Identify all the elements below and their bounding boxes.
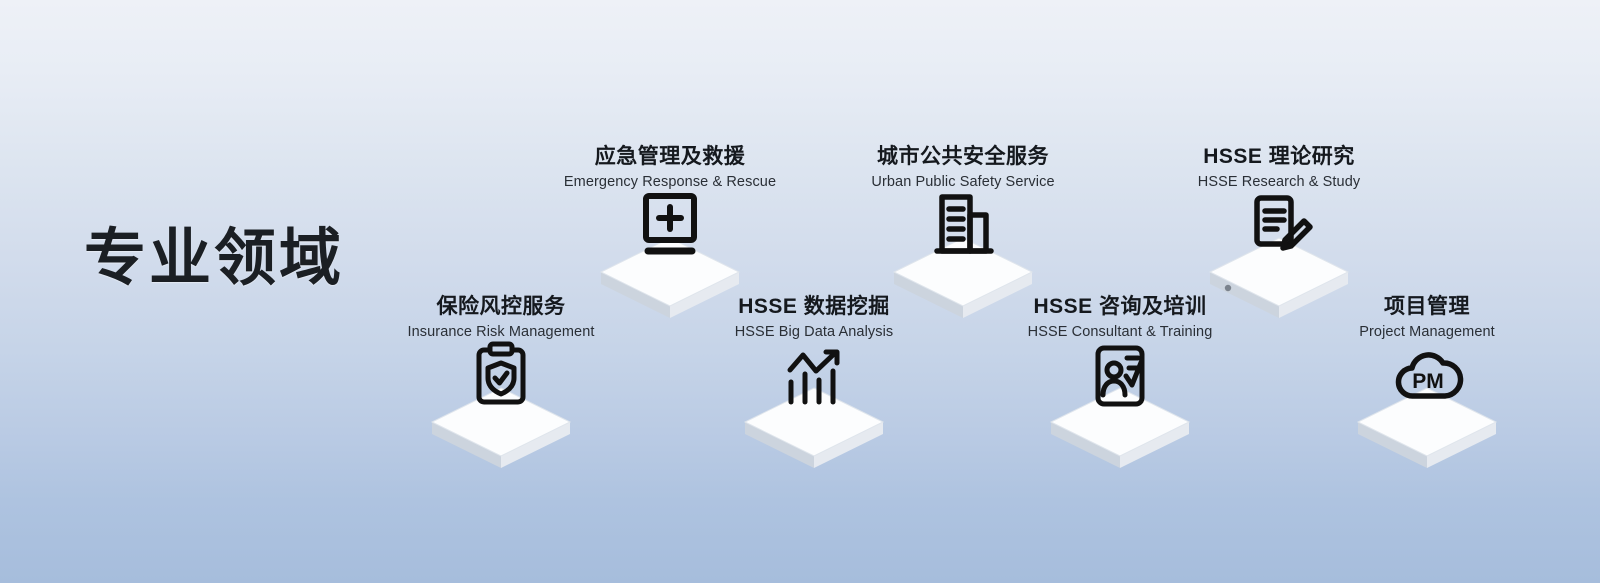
domain-item-hsse-consultant-training[interactable]: HSSE 咨询及培训 HSSE Consultant & Training (960, 295, 1280, 470)
domain-item-emergency-response-rescue[interactable]: 应急管理及救援 Emergency Response & Rescue (510, 145, 830, 320)
domain-icon-wrap: PM (1267, 350, 1587, 470)
domain-icon-wrap (960, 350, 1280, 470)
document-pencil-icon (1241, 190, 1317, 266)
id-card-person-check-icon (1082, 340, 1158, 416)
domain-label-cn: HSSE 理论研究 (1119, 145, 1439, 170)
domain-item-insurance-risk-management[interactable]: 保险风控服务 Insurance Risk Management (341, 295, 661, 470)
cloud-pm-icon: PM (1389, 340, 1465, 416)
domain-item-project-management[interactable]: 项目管理 Project Management PM (1267, 295, 1587, 470)
first-aid-kit-icon (632, 190, 708, 266)
clipboard-shield-check-icon (463, 340, 539, 416)
domain-icon-wrap (341, 350, 661, 470)
office-building-icon (925, 190, 1001, 266)
professional-domains-banner: 专业领域 应急管理及救援 Emergency Response & Rescue (0, 0, 1600, 583)
page-title: 专业领域 (84, 228, 344, 290)
domain-label-cn: HSSE 咨询及培训 (960, 295, 1280, 320)
domain-icon-wrap (654, 350, 974, 470)
domain-label-cn: 项目管理 (1267, 295, 1587, 320)
domain-label-cn: 应急管理及救援 (510, 145, 830, 170)
domain-label-cn: 保险风控服务 (341, 295, 661, 320)
domain-item-hsse-research-study[interactable]: HSSE 理论研究 HSSE Research & Study (1119, 145, 1439, 320)
domain-item-hsse-big-data-analysis[interactable]: HSSE 数据挖掘 HSSE Big Data Analysis (654, 295, 974, 470)
bar-chart-trend-icon (776, 340, 852, 416)
domain-item-urban-public-safety-service[interactable]: 城市公共安全服务 Urban Public Safety Service (803, 145, 1123, 320)
domain-label-cn: 城市公共安全服务 (803, 145, 1123, 170)
domain-label-cn: HSSE 数据挖掘 (654, 295, 974, 320)
cloud-pm-badge-text: PM (1412, 370, 1444, 393)
